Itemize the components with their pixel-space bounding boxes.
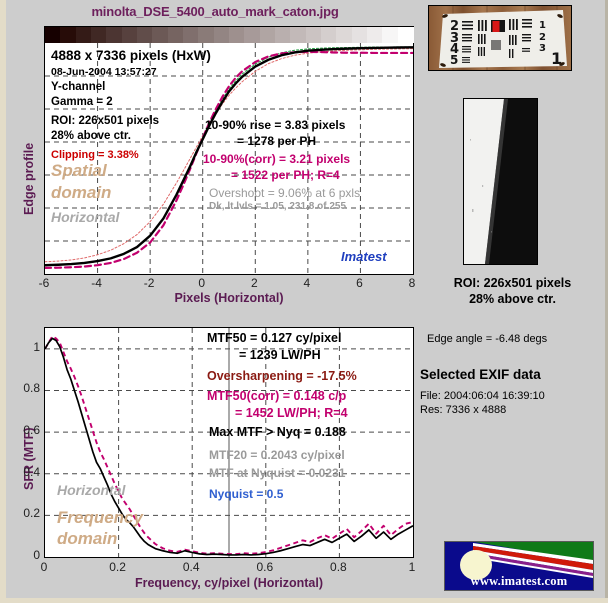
svg-text:2: 2 (539, 32, 546, 43)
mtf-y-tick: 0.8 (14, 381, 40, 395)
mtf50-line2: = 1239 LW/PH (239, 348, 321, 362)
exif-file-label: File: 2004:06:04 16:39:10 (420, 390, 545, 402)
svg-text:5: 5 (450, 53, 458, 67)
frequency-domain-label-line2: domain (57, 529, 117, 549)
orientation-label-frequency: Horizontal (57, 482, 125, 498)
overshoot-label: Overshoot = 9.06% at 6 pxls (209, 186, 360, 200)
window-bottom-border (0, 598, 608, 603)
orientation-label-spatial: Horizontal (51, 209, 119, 225)
roi-size-label: ROI: 226x501 pixels (51, 115, 159, 127)
mtf-x-tick: 0.6 (255, 560, 275, 574)
max-mtf-above-nyquist-label: Max MTF > Nyq = 0.188 (209, 425, 346, 439)
edge-angle-label: Edge angle = -6.48 degs (427, 333, 547, 345)
clipping-label: Clipping = 3.38% (51, 149, 139, 161)
mtf20-label: MTF20 = 0.2043 cy/pixel (209, 448, 345, 462)
svg-text:3: 3 (539, 43, 546, 54)
mtf-x-tick: 0.4 (181, 560, 201, 574)
mtf-at-nyquist-label: MTF at Nyquist = 0.0231 (209, 466, 345, 480)
exif-resolution-label: Res: 7336 x 4888 (420, 404, 506, 416)
roi-edge-crop-image (464, 99, 537, 264)
test-chart-thumbnail-image: 2 3 4 5 (429, 6, 571, 70)
mtf-y-tick: 0 (14, 548, 40, 562)
edge-profile-y-axis-title: Edge profile (22, 143, 36, 215)
edge-x-tick: 0 (194, 276, 210, 290)
edge-x-tick: 2 (246, 276, 262, 290)
edge-profile-plot: 4888 x 7336 pixels (HxW) 08-Jun-2004 13:… (44, 26, 414, 275)
page-title: minolta_DSE_5400_auto_mark_caton.jpg (0, 4, 430, 19)
spatial-domain-label-line1: Spatial (51, 161, 107, 181)
imatest-watermark-spatial: Imatest (341, 249, 387, 264)
image-dimensions-label: 4888 x 7336 pixels (HxW) (51, 48, 211, 63)
capture-datetime-label: 08-Jun-2004 13:57:27 (51, 66, 157, 78)
mtf-x-axis-title: Frequency, cy/pixel (Horizontal) (44, 576, 414, 590)
edge-x-tick: -2 (141, 276, 157, 290)
channel-label: Y-channel (51, 81, 105, 93)
imatest-sfr-window: minolta_DSE_5400_auto_mark_caton.jpg 488… (0, 0, 608, 603)
gamma-label: Gamma = 2 (51, 96, 113, 108)
mtf50-line1: MTF50 = 0.127 cy/pixel (207, 331, 341, 345)
roi-selection-box (493, 21, 500, 32)
imatest-logo-text: www.imatest.com (445, 574, 593, 589)
roi-size-right-label: ROI: 226x501 pixels (425, 276, 600, 290)
rise-result-line1: 10-90% rise = 3.83 pixels (205, 118, 345, 132)
mtf-x-tick: 0 (34, 560, 54, 574)
edge-profile-x-axis-title: Pixels (Horizontal) (44, 291, 414, 305)
mtf-plot: MTF50 = 0.127 cy/pixel = 1239 LW/PH Over… (44, 327, 414, 558)
rise-result-line2: = 1278 per PH (237, 134, 316, 148)
imatest-logo[interactable]: www.imatest.com (444, 541, 594, 591)
oversharpening-label: Oversharpening = -17.5% (207, 369, 357, 383)
edge-x-tick: 8 (404, 276, 420, 290)
edge-x-tick: -4 (89, 276, 105, 290)
roi-position-label: 28% above ctr. (51, 130, 131, 142)
rise-corrected-line1: 10-90%(corr) = 3.21 pixels (203, 152, 350, 166)
mtf-y-tick: 0.4 (14, 465, 40, 479)
edge-x-tick: -6 (36, 276, 52, 290)
svg-text:1: 1 (539, 20, 546, 31)
test-chart-thumbnail[interactable]: 2 3 4 5 (428, 5, 572, 71)
mtf-y-tick: 0.6 (14, 423, 40, 437)
frequency-domain-label-line1: Frequency (57, 508, 143, 528)
roi-position-right-label: 28% above ctr. (425, 292, 600, 306)
mtf-x-tick: 0.8 (328, 560, 348, 574)
spatial-domain-label-line2: domain (51, 183, 111, 203)
edge-x-tick: 4 (299, 276, 315, 290)
mtf50-corrected-line2: = 1452 LW/PH; R=4 (235, 406, 348, 420)
mtf-y-tick: 0.2 (14, 506, 40, 520)
mtf-x-tick: 0.2 (108, 560, 128, 574)
nyquist-label: Nyquist = 0.5 (209, 487, 283, 501)
mtf-y-tick: 1 (14, 340, 40, 354)
mtf50-corrected-line1: MTF50(corr) = 0.148 c/p (207, 389, 346, 403)
rise-corrected-line2: = 1522 per PH; R=4 (231, 168, 340, 182)
exif-heading: Selected EXIF data (420, 367, 541, 382)
dark-light-levels-label: Dk, lt lvls = 1.05, 231.8 of 255 (209, 201, 346, 212)
edge-x-tick: 6 (351, 276, 367, 290)
roi-edge-crop[interactable] (463, 98, 538, 265)
mtf-x-tick: 1 (402, 560, 422, 574)
window-left-border (0, 0, 6, 603)
